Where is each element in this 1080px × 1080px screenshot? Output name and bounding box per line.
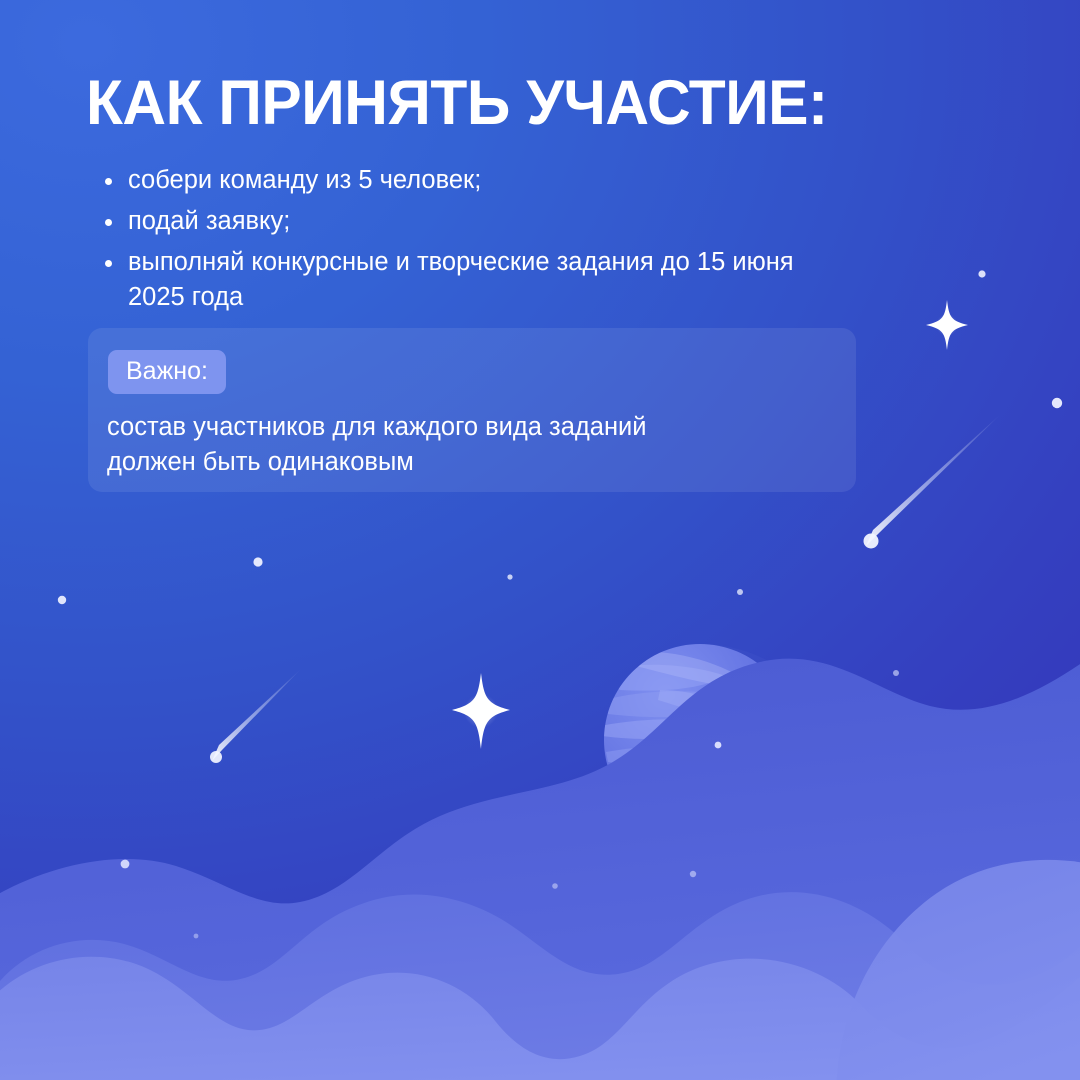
- dot-stars-foreground: [121, 670, 899, 938]
- background-illustration: [0, 0, 1080, 1080]
- sky-decorations: [0, 0, 1080, 1080]
- status-badge: Важно:: [108, 350, 226, 394]
- comet-upper-right: [864, 412, 1004, 549]
- list-item: подай заявку;: [96, 204, 856, 239]
- sparkle-star-large: [452, 673, 510, 749]
- list-item: собери команду из 5 человек;: [96, 163, 856, 198]
- cloud-layer-mid: [0, 892, 1080, 1080]
- cloud-layer-front: [0, 957, 1080, 1080]
- cloud-layer-right-bump: [836, 860, 1080, 1080]
- banded-gas-planet: [596, 644, 820, 845]
- note-line-1: состав участников для каждого вида задан…: [107, 410, 837, 445]
- sparkle-star-small: [926, 300, 968, 350]
- list-item: выполняй конкурсные и творческие задания…: [96, 245, 856, 315]
- participation-steps-list: собери команду из 5 человек; подай заявк…: [96, 163, 856, 321]
- comet-left: [210, 668, 302, 763]
- cloud-layer-back: [0, 650, 1080, 1080]
- note-line-2: должен быть одинаковым: [107, 445, 837, 480]
- space-poster: КАК ПРИНЯТЬ УЧАСТИЕ: собери команду из 5…: [0, 0, 1080, 1080]
- important-note-panel: Важно: состав участников для каждого вид…: [88, 328, 856, 492]
- important-note-text: состав участников для каждого вида задан…: [107, 410, 837, 480]
- page-title: КАК ПРИНЯТЬ УЧАСТИЕ:: [86, 72, 828, 135]
